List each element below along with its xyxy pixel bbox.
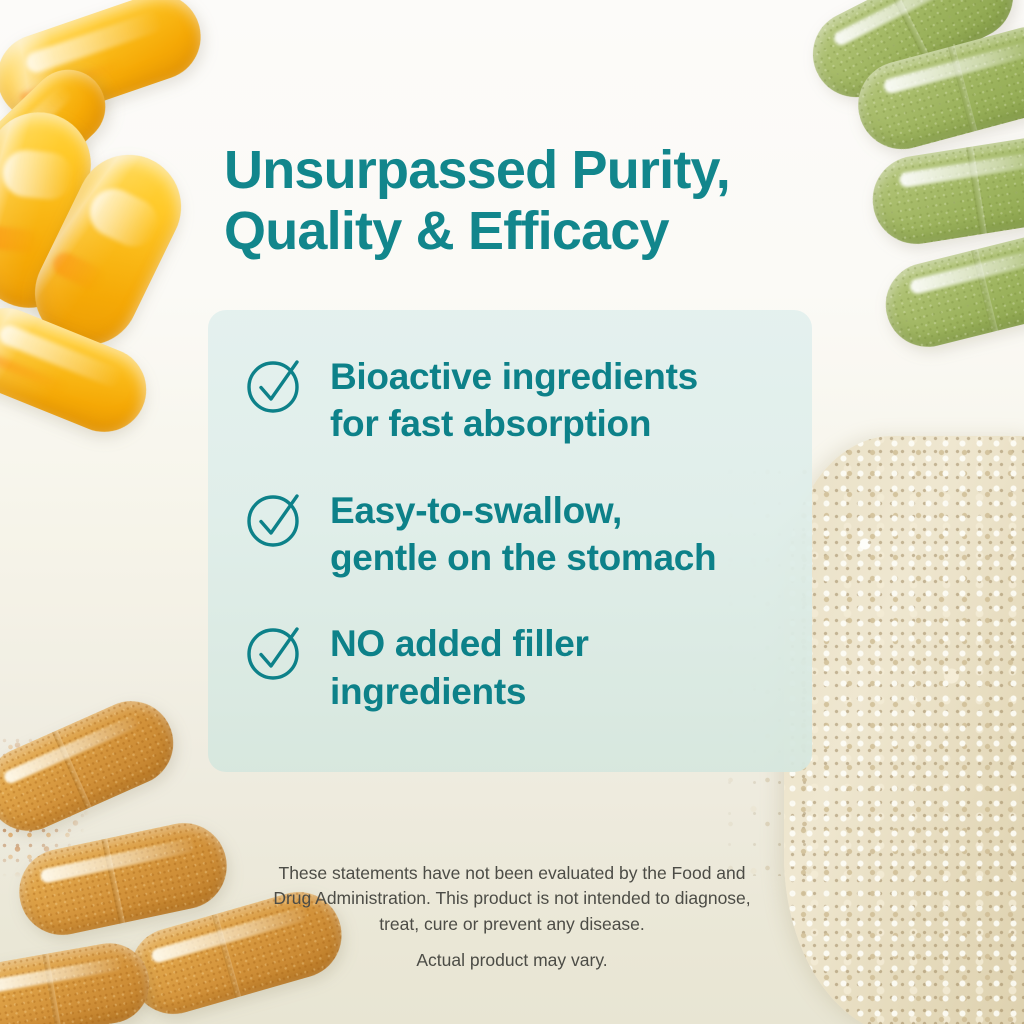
capsule-joint-band: [102, 838, 126, 923]
yellow-softgel-capsule: [0, 0, 212, 132]
green-capsule: [848, 17, 1024, 159]
capsule-powder-texture: [0, 937, 156, 1024]
green-capsule: [798, 0, 1024, 112]
green-capsule: [877, 224, 1024, 355]
list-item: Easy-to-swallow, gentle on the stomach: [244, 486, 788, 582]
capsule-joint-band: [948, 45, 978, 132]
product-variation-note: Actual product may vary.: [196, 948, 828, 973]
list-item: NO added filler ingredients: [244, 619, 788, 715]
yellow-softgel-capsule: [0, 54, 121, 211]
capsule-powder-texture: [0, 688, 187, 844]
capsule-joint-band: [888, 0, 933, 66]
capsule-powder-texture: [866, 130, 1024, 250]
list-item-label: Bioactive ingredients for fast absorptio…: [330, 352, 698, 448]
capsule-joint-band: [971, 249, 998, 332]
list-item: Bioactive ingredients for fast absorptio…: [244, 352, 788, 448]
capsule-joint-band: [42, 953, 62, 1024]
check-circle-icon: [244, 488, 306, 550]
yellow-softgel-capsule: [0, 107, 96, 313]
amber-capsule: [0, 937, 156, 1024]
capsule-powder-texture: [848, 17, 1024, 159]
list-item-label: NO added filler ingredients: [330, 619, 589, 715]
benefits-list: Bioactive ingredients for fast absorptio…: [244, 352, 788, 715]
check-circle-icon: [244, 354, 306, 416]
benefits-card: Bioactive ingredients for fast absorptio…: [208, 310, 812, 772]
green-capsule: [866, 130, 1024, 250]
page-title: Unsurpassed Purity, Quality & Efficacy: [224, 140, 844, 261]
yellow-softgel-capsule: [17, 137, 198, 362]
check-circle-icon: [244, 621, 306, 683]
list-item-label: Easy-to-swallow, gentle on the stomach: [330, 486, 716, 582]
capsule-joint-band: [52, 730, 92, 809]
scattered-spice-powder: [0, 700, 150, 890]
amber-capsule: [0, 688, 187, 844]
yellow-softgel-capsule: [0, 295, 159, 444]
capsule-powder-texture: [798, 0, 1024, 112]
fda-disclaimer: These statements have not been evaluated…: [196, 861, 828, 939]
capsule-powder-texture: [877, 224, 1024, 355]
promo-graphic: Unsurpassed Purity, Quality & Efficacy B…: [0, 0, 1024, 1024]
capsule-joint-band: [966, 146, 987, 234]
